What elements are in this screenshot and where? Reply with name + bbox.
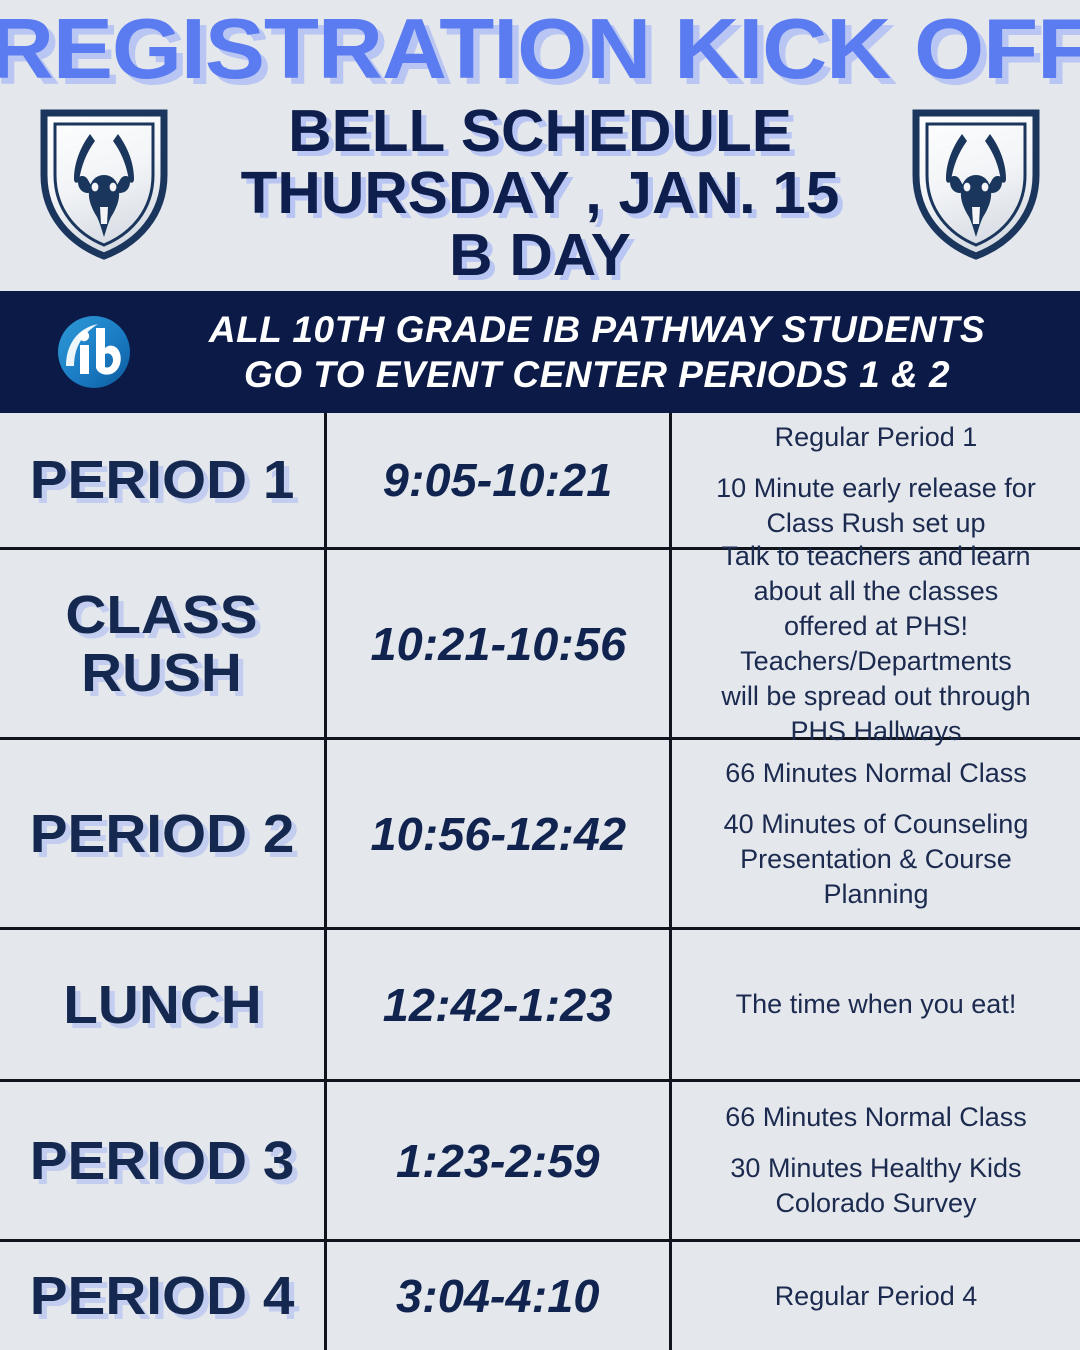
description-line: 10 Minute early release for (716, 471, 1036, 506)
ib-announcement-banner: ALL 10TH GRADE IB PATHWAY STUDENTS GO TO… (0, 291, 1080, 413)
table-row: PERIOD 4 3:04-4:10 Regular Period 4 (0, 1242, 1080, 1350)
description-line: offered at PHS! (721, 609, 1030, 644)
page-title: REGISTRATION KICK OFF (0, 4, 1080, 96)
description-line: 66 Minutes Normal Class (724, 756, 1029, 791)
description-line: 66 Minutes Normal Class (725, 1100, 1027, 1135)
schedule-table: PERIOD 1 9:05-10:21 Regular Period 1 10 … (0, 413, 1080, 1350)
description-line: The time when you eat! (736, 987, 1017, 1022)
description-line: Colorado Survey (725, 1186, 1027, 1221)
poster-header: REGISTRATION KICK OFF BELL SCHEDULE THUR… (0, 0, 1080, 291)
time-label: 9:05-10:21 (383, 455, 613, 505)
description-line: 30 Minutes Healthy Kids (725, 1151, 1027, 1186)
gazelle-shield-icon (910, 103, 1042, 261)
time-cell: 9:05-10:21 (327, 413, 672, 547)
period-cell: PERIOD 1 (0, 413, 327, 547)
description-line: about all the classes (721, 574, 1030, 609)
time-cell: 10:56-12:42 (327, 740, 672, 927)
description-line: 40 Minutes of Counseling (724, 807, 1029, 842)
description-text: Regular Period 4 (775, 1279, 978, 1314)
time-label: 10:21-10:56 (370, 619, 626, 669)
time-label: 10:56-12:42 (370, 809, 626, 859)
period-label: PERIOD 2 (30, 806, 295, 862)
period-label: PERIOD 4 (30, 1268, 295, 1324)
description-cell: The time when you eat! (672, 930, 1080, 1079)
description-cell: Regular Period 4 (672, 1242, 1080, 1350)
period-cell: PERIOD 2 (0, 740, 327, 927)
period-cell: PERIOD 4 (0, 1242, 327, 1350)
description-line: Presentation & Course (724, 842, 1029, 877)
description-text: The time when you eat! (736, 987, 1017, 1022)
description-spacer (716, 455, 1036, 471)
period-label: LUNCH (63, 977, 261, 1033)
description-line: Teachers/Departments (721, 644, 1030, 679)
period-label-line: CLASS (66, 586, 258, 644)
period-cell: LUNCH (0, 930, 327, 1079)
ib-banner-line-2: GO TO EVENT CENTER PERIODS 1 & 2 (158, 352, 1036, 397)
period-cell: PERIOD 3 (0, 1082, 327, 1239)
time-cell: 10:21-10:56 (327, 550, 672, 737)
description-cell: Regular Period 1 10 Minute early release… (672, 413, 1080, 547)
description-line: Regular Period 4 (775, 1279, 978, 1314)
time-cell: 3:04-4:10 (327, 1242, 672, 1350)
description-text: 66 Minutes Normal Class 40 Minutes of Co… (724, 756, 1029, 912)
ib-banner-text: ALL 10TH GRADE IB PATHWAY STUDENTS GO TO… (158, 307, 1056, 397)
period-cell: CLASS RUSH (0, 550, 327, 737)
table-row: LUNCH 12:42-1:23 The time when you eat! (0, 930, 1080, 1082)
ib-banner-line-1: ALL 10TH GRADE IB PATHWAY STUDENTS (158, 307, 1036, 352)
time-cell: 12:42-1:23 (327, 930, 672, 1079)
description-cell: 66 Minutes Normal Class 40 Minutes of Co… (672, 740, 1080, 927)
description-spacer (725, 1135, 1027, 1151)
bell-schedule-poster: REGISTRATION KICK OFF BELL SCHEDULE THUR… (0, 0, 1080, 1350)
description-text: Regular Period 1 10 Minute early release… (716, 420, 1036, 541)
description-text: 66 Minutes Normal Class 30 Minutes Healt… (725, 1100, 1027, 1221)
description-line: Regular Period 1 (716, 420, 1036, 455)
description-line: Class Rush set up (716, 506, 1036, 541)
time-label: 12:42-1:23 (383, 980, 613, 1030)
description-line: Planning (724, 877, 1029, 912)
period-label: CLASS RUSH (66, 586, 258, 702)
time-cell: 1:23-2:59 (327, 1082, 672, 1239)
period-label: PERIOD 1 (30, 452, 295, 508)
description-line: will be spread out through (721, 679, 1030, 714)
time-label: 1:23-2:59 (396, 1136, 599, 1186)
description-cell: Talk to teachers and learn about all the… (672, 550, 1080, 737)
description-cell: 66 Minutes Normal Class 30 Minutes Healt… (672, 1082, 1080, 1239)
description-text: Talk to teachers and learn about all the… (721, 539, 1030, 749)
description-line: Talk to teachers and learn (721, 539, 1030, 574)
table-row: PERIOD 1 9:05-10:21 Regular Period 1 10 … (0, 413, 1080, 550)
table-row: PERIOD 3 1:23-2:59 66 Minutes Normal Cla… (0, 1082, 1080, 1242)
description-spacer (724, 791, 1029, 807)
table-row: PERIOD 2 10:56-12:42 66 Minutes Normal C… (0, 740, 1080, 930)
table-row: CLASS RUSH 10:21-10:56 Talk to teachers … (0, 550, 1080, 740)
time-label: 3:04-4:10 (396, 1271, 599, 1321)
period-label: PERIOD 3 (30, 1133, 295, 1189)
period-label-line: RUSH (66, 644, 258, 702)
ib-logo-icon (56, 314, 132, 390)
